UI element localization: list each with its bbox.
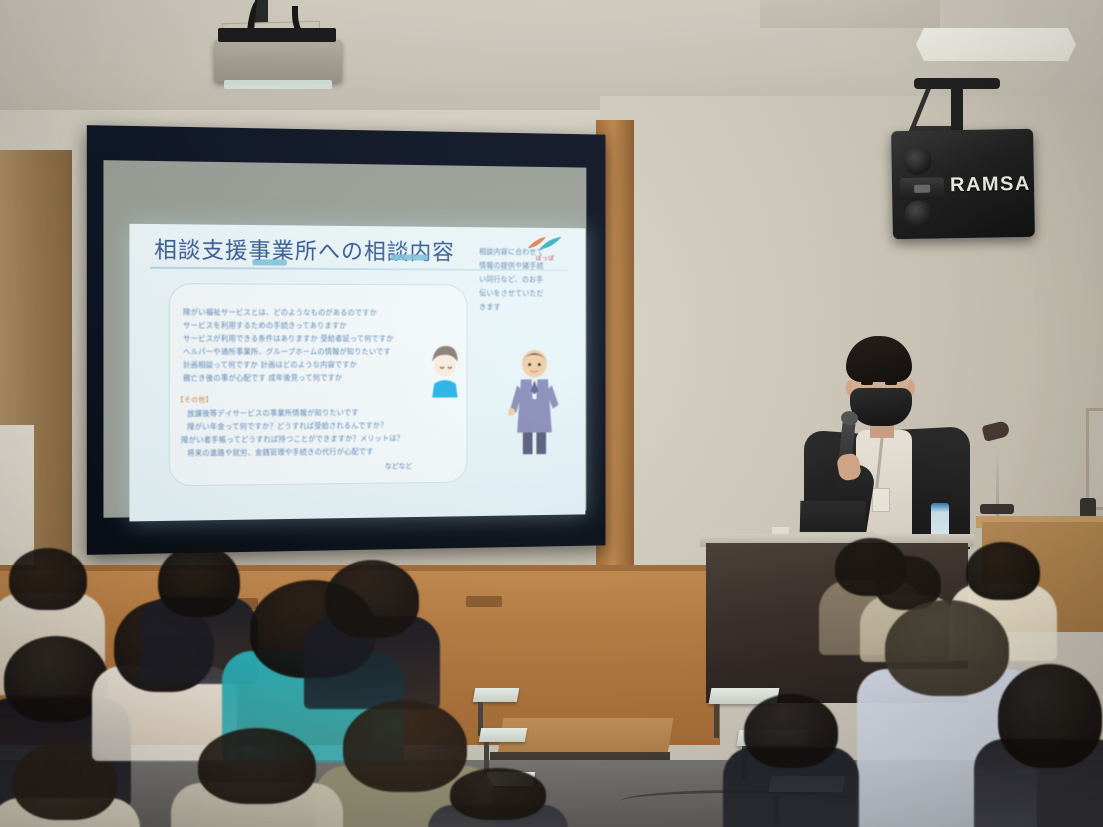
bubble-highlight-2 bbox=[391, 254, 429, 260]
slide-staff-illustration bbox=[508, 348, 560, 457]
slide-right-line: 相談内容に合わせて bbox=[479, 247, 578, 258]
cabinet-object bbox=[1080, 498, 1096, 516]
presentation-slide: 相談支援事業所への相談内容 ぽっぽ 障が bbox=[129, 224, 585, 522]
slide-right-line: 情報の提供や諸手続 bbox=[479, 261, 578, 271]
dado-vent bbox=[466, 596, 502, 607]
speaker-pole bbox=[951, 82, 963, 134]
bubble-dot-2 bbox=[405, 246, 408, 249]
slide-footer-text: などなど bbox=[385, 461, 413, 471]
audience-9 bbox=[182, 728, 332, 827]
slide-line: 障がい年金って何ですか？どうすれば受給されるんですか？ bbox=[187, 421, 387, 433]
speaker-brand-label: RAMSA bbox=[950, 173, 1031, 197]
ceiling-light bbox=[916, 28, 1076, 61]
projector bbox=[214, 40, 342, 82]
slide-line: 親亡き後の事が心配です 成年後見って何ですか bbox=[183, 373, 342, 384]
slide-line: 障がい者手帳ってどうすれば持つことができますか？メリットは？ bbox=[181, 434, 404, 446]
slide-line: 障がい福祉サービスとは、どのようなものがあるのですか bbox=[183, 308, 377, 319]
slide-line: 計画相談って何ですか 計画はどのような内容ですか bbox=[183, 360, 357, 370]
audience-7 bbox=[318, 560, 426, 700]
wall-frame bbox=[1086, 408, 1103, 510]
audience-15 bbox=[736, 694, 846, 827]
audience-9-head bbox=[198, 728, 316, 804]
speaker-cone-top bbox=[903, 147, 931, 175]
audience-15-head bbox=[744, 694, 838, 768]
audience-7-head bbox=[325, 560, 419, 638]
audience-1-head bbox=[9, 548, 87, 610]
ramsa-speaker: RAMSA bbox=[891, 129, 1035, 239]
projection-screen-frame: 相談支援事業所への相談内容 ぽっぽ 障が bbox=[87, 125, 606, 555]
audience-5-head bbox=[158, 545, 240, 617]
presenter-name-badge bbox=[872, 488, 890, 512]
slide-line: サービスが利用できる条件はありますか 受給者証って何ですか bbox=[183, 334, 394, 344]
slide-section-label: 【その他】 bbox=[177, 395, 213, 404]
mic-stand-base bbox=[980, 504, 1014, 514]
audience-14 bbox=[996, 664, 1103, 827]
audience-16 bbox=[438, 768, 558, 827]
ceiling-vent bbox=[760, 0, 940, 28]
speaker-horn bbox=[900, 177, 944, 200]
slide-right-line: 伝いをさせていただ bbox=[479, 289, 578, 299]
speaker-cone-bottom bbox=[904, 201, 932, 227]
audience-5 bbox=[152, 545, 246, 675]
audience-12-head bbox=[966, 542, 1040, 600]
projection-screen-surface: 相談支援事業所への相談内容 ぽっぽ 障が bbox=[103, 160, 586, 518]
slide-line: サービスを利用するための手続きってありますか bbox=[183, 321, 347, 331]
audience-14-head bbox=[998, 664, 1102, 768]
slide-right-line: きます bbox=[479, 302, 578, 312]
slide-right-column: 相談内容に合わせて 情報の提供や諸手続 い同行など、のお手 伝いをさせていただ … bbox=[479, 247, 578, 316]
slide-line: 将来の進路や就労、金銭管理や手続きの代行が心配です bbox=[187, 447, 373, 459]
slide-line: ヘルパーや通所事業所、グループホームの情報が知りたいです bbox=[183, 347, 391, 357]
seminar-room-photo: RAMSA 相談支援事業所への相談内容 ぽっぽ bbox=[0, 0, 1103, 827]
bubble-dot-1 bbox=[263, 251, 266, 254]
slide-user-illustration bbox=[424, 338, 465, 400]
desk-4-leg bbox=[714, 704, 719, 738]
slide-title: 相談支援事業所への相談内容 bbox=[154, 232, 455, 266]
presenter-hair bbox=[846, 336, 912, 382]
bubble-highlight-1 bbox=[252, 259, 286, 265]
desk-2 bbox=[479, 728, 527, 742]
slide-right-line: い同行など、のお手 bbox=[479, 275, 578, 285]
slide-line: 放課後等デイサービスの事業所情報が知りたいです bbox=[187, 408, 359, 419]
audience-16-head bbox=[450, 768, 546, 820]
audience-13-head bbox=[885, 600, 1009, 696]
presenter-face-mask bbox=[850, 388, 912, 426]
